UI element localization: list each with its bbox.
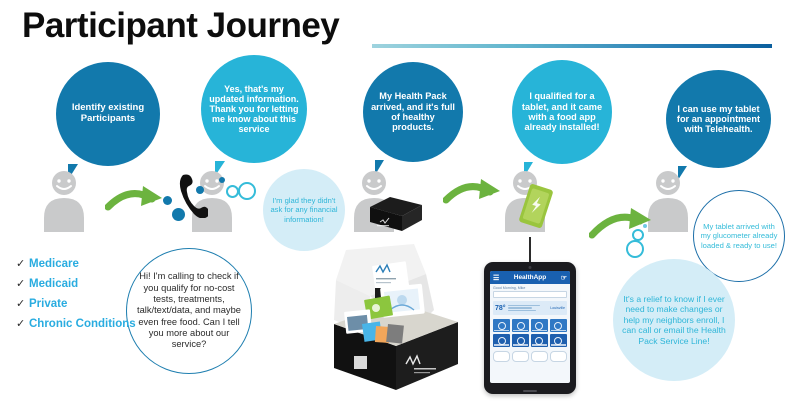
tablet-weather-widget[interactable]: 78° Louisville [493,301,567,315]
check-mark-icon: ✓ [16,278,29,291]
tablet-nav-item[interactable] [512,351,529,362]
curved-arrow-icon-svg [105,182,167,216]
checklist-item-label: Chronic Conditions [29,318,136,331]
decorative-ring [626,240,644,258]
bubble-telehealth-text: I can use my tablet for an appointment w… [674,104,763,135]
tablet-app-name: HealthApp [514,274,547,281]
tablet-app-bar: ☰ HealthApp ☞ [490,271,570,284]
shipping-box-icon [368,193,424,233]
checklist-item-label: Medicaid [29,278,78,291]
checklist-item-label: Private [29,298,67,311]
tablet-temperature: 78° [495,305,506,312]
tablet-location: Louisville [550,306,565,310]
bubble-identify: Identify existing Participants [56,62,160,166]
curved-arrow-icon-svg [443,175,505,209]
circle-call-script-text: Hi! I'm calling to check if you qualify … [137,271,241,350]
circle-relief-service-line-text: It's a relief to know if I ever need to … [619,294,729,346]
checklist-item: ✓ Private [16,298,136,311]
tablet-tile[interactable] [550,319,567,332]
tablet-nav-item[interactable] [493,351,510,362]
health-pack-box-svg [318,238,468,398]
checklist-item: ✓ Chronic Conditions [16,318,136,331]
shipping-box-icon-svg [368,193,424,233]
decorative-ring [238,182,256,200]
tablet-tile[interactable] [550,334,567,347]
check-mark-icon: ✓ [16,258,29,271]
bubble-updated-info: Yes, that's my updated information. Than… [201,55,307,163]
circle-relief-service-line: It's a relief to know if I ever need to … [613,259,735,381]
checklist-item: ✓ Medicaid [16,278,136,291]
checklist-item-label: Medicare [29,258,79,271]
tablet-device: ☰ HealthApp ☞ Good Morning, Mike 78° Lou… [484,262,576,394]
decorative-dot [163,196,172,205]
hand-pointer-icon[interactable]: ☞ [561,274,567,282]
bubble-health-pack-text: My Health Pack arrived, and it's full of… [371,91,455,132]
title-divider-rule [372,44,772,48]
bubble-identify-text: Identify existing Participants [64,103,152,124]
tablet-camera-icon [529,266,532,269]
curved-arrow-icon-svg [589,202,657,242]
decorative-dot [219,177,225,183]
tablet-bottom-nav [493,351,567,362]
bubble-qualified-tablet-text: I qualified for a tablet, and it came wi… [520,91,604,132]
green-tablet-card-icon-svg [518,182,554,230]
tablet-home-indicator[interactable] [523,390,537,392]
infographic-canvas: Participant Journey Identify existing Pa… [0,0,793,400]
tablet-tile[interactable] [493,334,510,347]
tablet-search-input[interactable] [493,291,567,298]
tablet-tile[interactable] [493,319,510,332]
page-title: Participant Journey [22,6,339,46]
tablet-greeting: Good Morning, Mike [490,284,570,290]
bubble-health-pack: My Health Pack arrived, and it's full of… [363,62,463,162]
curved-arrow-icon [443,175,505,214]
tablet-screen: ☰ HealthApp ☞ Good Morning, Mike 78° Lou… [490,271,570,383]
eligibility-checklist: ✓ Medicare ✓ Medicaid ✓ Private ✓ Chroni… [16,258,136,338]
person-icon [42,170,86,237]
bubble-qualified-tablet: I qualified for a tablet, and it came wi… [512,60,612,164]
tablet-tile[interactable] [512,319,529,332]
tablet-connector-line [529,237,531,264]
tablet-nav-item[interactable] [531,351,548,362]
tablet-nav-item[interactable] [550,351,567,362]
checklist-item: ✓ Medicare [16,258,136,271]
curved-arrow-icon [105,182,167,221]
tablet-tile-grid [493,319,567,347]
decorative-dot [196,186,204,194]
check-mark-icon: ✓ [16,318,29,331]
circle-glucometer-text: My tablet arrived with my glucometer alr… [700,222,778,249]
circle-no-financial-info-text: I'm glad they didn't ask for any financi… [269,196,339,224]
health-pack-box-icon [318,238,468,398]
circle-call-script: Hi! I'm calling to check if you qualify … [126,248,252,374]
decorative-dot [172,208,185,221]
hamburger-menu-icon[interactable]: ☰ [493,274,499,282]
person-icon-svg [42,170,86,232]
tablet-tile[interactable] [531,334,548,347]
tablet-weather-lines [508,303,549,312]
bubble-telehealth: I can use my tablet for an appointment w… [666,70,771,168]
bubble-updated-info-text: Yes, that's my updated information. Than… [209,84,299,134]
tablet-tile[interactable] [512,334,529,347]
decorative-dot [643,224,647,228]
green-tablet-card-icon [518,182,550,226]
check-mark-icon: ✓ [16,298,29,311]
tablet-tile[interactable] [531,319,548,332]
